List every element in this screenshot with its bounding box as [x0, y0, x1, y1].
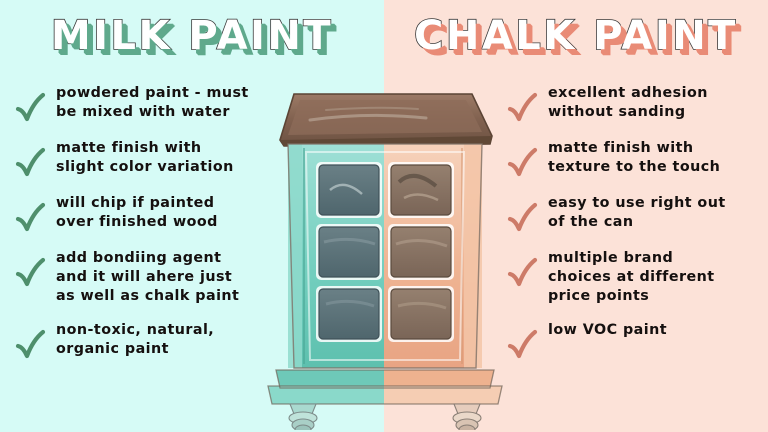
check-mark-icon	[506, 90, 538, 124]
check-mark-icon	[14, 255, 46, 289]
cabinet-foot-right	[453, 404, 481, 430]
check-mark-icon	[14, 327, 46, 361]
header-cell-left: MILK PAINT	[0, 0, 384, 76]
list-item: powdered paint - must be mixed with wate…	[14, 84, 292, 124]
drawer-panel	[388, 162, 454, 218]
list-item-label: excellent adhesion without sanding	[548, 84, 708, 122]
list-item-label: will chip if painted over finished wood	[56, 194, 218, 232]
list-item-label: matte finish with slight color variation	[56, 139, 234, 177]
list-item: add bondiing agent and it will ahere jus…	[14, 249, 292, 306]
list-item-label: easy to use right out of the can	[548, 194, 726, 232]
list-item: excellent adhesion without sanding	[506, 84, 768, 124]
drawer-panel	[316, 162, 382, 218]
drawer-panel	[388, 286, 454, 342]
cabinet-top	[280, 94, 492, 146]
check-mark-icon	[14, 200, 46, 234]
milk-paint-title: MILK PAINT	[51, 16, 333, 60]
list-item: low VOC paint	[506, 321, 768, 361]
nightstand-illustration	[258, 82, 510, 430]
list-item-label: multiple brand choices at different pric…	[548, 249, 715, 306]
list-item: easy to use right out of the can	[506, 194, 768, 234]
list-item-label: powdered paint - must be mixed with wate…	[56, 84, 249, 122]
list-item: non-toxic, natural, organic paint	[14, 321, 292, 361]
cabinet-base	[268, 370, 502, 404]
list-item-label: non-toxic, natural, organic paint	[56, 321, 214, 359]
header-cell-right: CHALK PAINT	[384, 0, 768, 76]
list-item-label: low VOC paint	[548, 321, 667, 340]
header-row: MILK PAINT CHALK PAINT	[0, 0, 768, 76]
check-mark-icon	[14, 145, 46, 179]
cabinet-foot-left	[289, 404, 317, 430]
check-mark-icon	[506, 145, 538, 179]
drawer-panel	[388, 224, 454, 280]
list-item-label: add bondiing agent and it will ahere jus…	[56, 249, 239, 306]
check-mark-icon	[506, 200, 538, 234]
list-item: multiple brand choices at different pric…	[506, 249, 768, 306]
drawer-panel	[316, 224, 382, 280]
milk-paint-feature-list: powdered paint - must be mixed with wate…	[14, 84, 292, 376]
list-item: will chip if painted over finished wood	[14, 194, 292, 234]
list-item: matte finish with texture to the touch	[506, 139, 768, 179]
check-mark-icon	[506, 255, 538, 289]
infographic-root: MILK PAINT CHALK PAINT	[0, 0, 768, 432]
chalk-paint-feature-list: excellent adhesion without sanding matte…	[506, 84, 768, 376]
list-item-label: matte finish with texture to the touch	[548, 139, 720, 177]
list-item: matte finish with slight color variation	[14, 139, 292, 179]
drawer-panel	[316, 286, 382, 342]
check-mark-icon	[14, 90, 46, 124]
chalk-paint-title: CHALK PAINT	[414, 16, 738, 60]
check-mark-icon	[506, 327, 538, 361]
